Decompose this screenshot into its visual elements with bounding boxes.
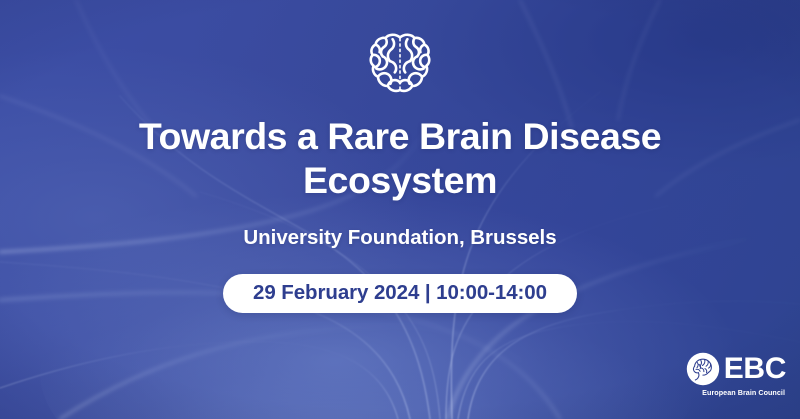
ebc-logo-caption: European Brain Council [702,388,785,397]
event-banner: Towards a Rare Brain Disease Ecosystem U… [0,0,800,419]
ebc-logo-row: EBC [686,352,786,386]
page-title: Towards a Rare Brain Disease Ecosystem [139,115,661,202]
event-location: University Foundation, Brussels [243,226,556,250]
ebc-logo[interactable]: EBC European Brain Council [686,352,786,397]
title-line-2: Ecosystem [139,159,661,203]
ebc-wordmark: EBC [724,354,786,384]
event-date-badge: 29 February 2024 | 10:00-14:00 [223,274,577,313]
brain-icon [368,30,432,98]
banner-content: Towards a Rare Brain Disease Ecosystem U… [0,0,800,419]
ebc-brain-circle-icon [686,352,720,386]
title-line-1: Towards a Rare Brain Disease [139,115,661,159]
